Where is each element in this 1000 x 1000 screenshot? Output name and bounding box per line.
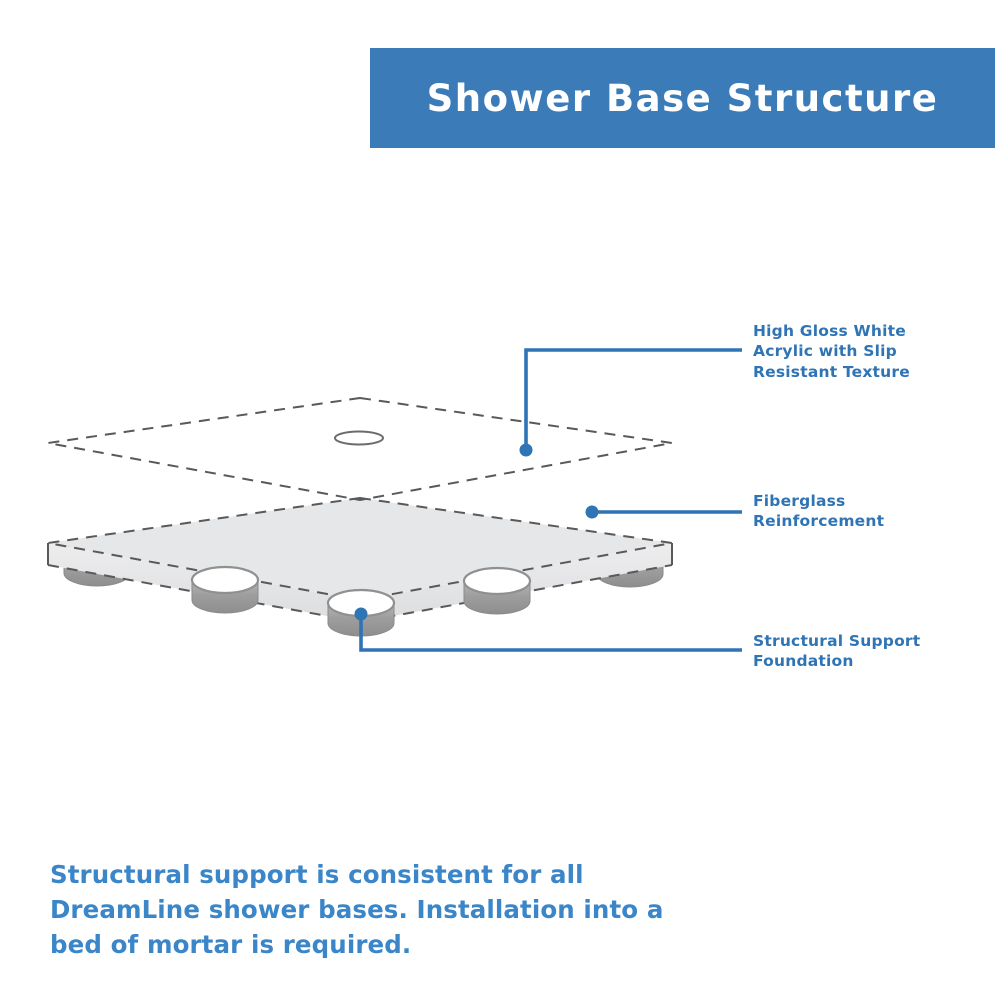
leader-line-support	[361, 614, 742, 650]
callout-label-support: Structural Support Foundation	[753, 631, 983, 672]
diagram-canvas: Shower Base Structure	[0, 0, 1000, 1000]
leader-line-acrylic	[526, 350, 742, 450]
leader-dot-fiberglass	[586, 506, 599, 519]
leader-dot-support	[355, 608, 368, 621]
support-ring	[464, 568, 530, 614]
callout-label-fiberglass: Fiberglass Reinforcement	[753, 491, 983, 532]
leader-dot-acrylic	[520, 444, 533, 457]
acrylic-top-panel	[48, 398, 672, 500]
callout-label-acrylic: High Gloss White Acrylic with Slip Resis…	[753, 321, 983, 382]
footer-caption: Structural support is consistent for all…	[50, 858, 690, 962]
title-banner: Shower Base Structure	[370, 48, 995, 148]
support-ring	[192, 567, 258, 613]
page-title: Shower Base Structure	[427, 77, 939, 120]
drain-opening	[335, 432, 383, 445]
